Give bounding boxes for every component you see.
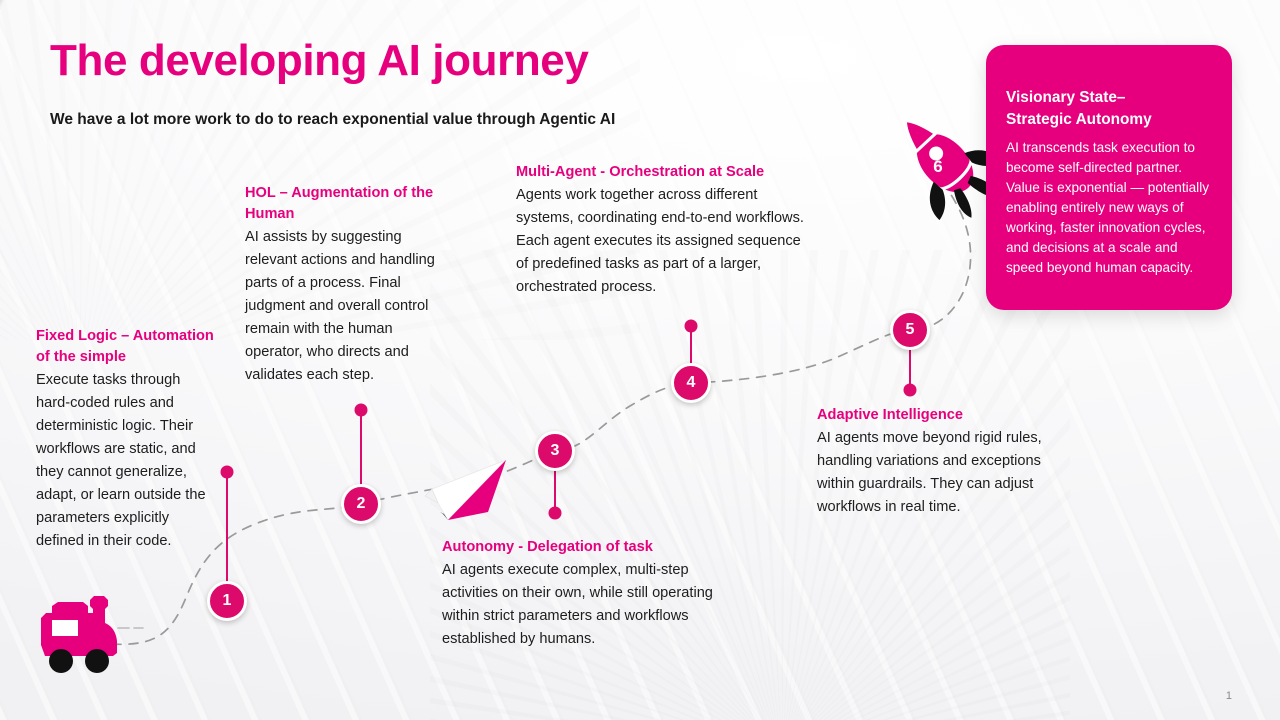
step-heading-3: Autonomy - Delegation of task [442, 537, 734, 558]
journey-marker-1[interactable]: 1 [207, 581, 247, 621]
marker-stem-dot-2 [355, 404, 368, 417]
marker-label-3: 3 [551, 442, 560, 460]
step-heading-4: Multi-Agent - Orchestration at Scale [516, 162, 808, 183]
marker-label-4: 4 [687, 374, 696, 392]
step-block-3: Autonomy - Delegation of task AI agents … [442, 537, 734, 651]
card-heading-line-1: Visionary State– [1006, 89, 1125, 106]
step-body-1: Execute tasks through hard-coded rules a… [36, 369, 216, 552]
journey-marker-5[interactable]: 5 [890, 310, 930, 350]
step-body-4: Agents work together across different sy… [516, 184, 808, 299]
journey-marker-4[interactable]: 4 [671, 363, 711, 403]
marker-stem-dot-1 [221, 466, 234, 479]
marker-label-2: 2 [357, 495, 366, 513]
journey-marker-3[interactable]: 3 [535, 431, 575, 471]
train-icon [41, 596, 142, 656]
step-block-4: Multi-Agent - Orchestration at Scale Age… [516, 162, 808, 299]
step-body-3: AI agents execute complex, multi-step ac… [442, 559, 734, 651]
marker-label-1: 1 [223, 592, 232, 610]
card-heading-line-2: Strategic Autonomy [1006, 111, 1152, 128]
rocket-number: 6 [933, 157, 942, 176]
slide-canvas: The developing AI journey We have a lot … [0, 0, 1280, 720]
marker-stem-dot-3 [549, 507, 562, 520]
train-wheel-right [85, 649, 109, 673]
step-heading-1: Fixed Logic – Automation of the simple [36, 326, 216, 368]
step-body-5: AI agents move beyond rigid rules, handl… [817, 427, 1079, 519]
step-body-2: AI assists by suggesting relevant action… [245, 226, 441, 386]
train-wheel-left [49, 649, 73, 673]
marker-stem-dot-4 [685, 320, 698, 333]
journey-marker-2[interactable]: 2 [341, 484, 381, 524]
visionary-state-card: Visionary State– Strategic Autonomy AI t… [986, 45, 1232, 310]
step-block-5: Adaptive Intelligence AI agents move bey… [817, 405, 1079, 519]
card-body: AI transcends task execution to become s… [1006, 138, 1218, 278]
step-block-1: Fixed Logic – Automation of the simple E… [36, 326, 216, 553]
step-heading-2: HOL – Augmentation of the Human [245, 183, 441, 225]
card-heading: Visionary State– Strategic Autonomy [1006, 87, 1214, 131]
page-number: 1 [1226, 690, 1232, 702]
marker-label-5: 5 [906, 321, 915, 339]
marker-stem-dot-5 [904, 384, 917, 397]
step-heading-5: Adaptive Intelligence [817, 405, 1079, 426]
paper-plane-icon [425, 460, 506, 520]
step-block-2: HOL – Augmentation of the Human AI assis… [245, 183, 441, 387]
